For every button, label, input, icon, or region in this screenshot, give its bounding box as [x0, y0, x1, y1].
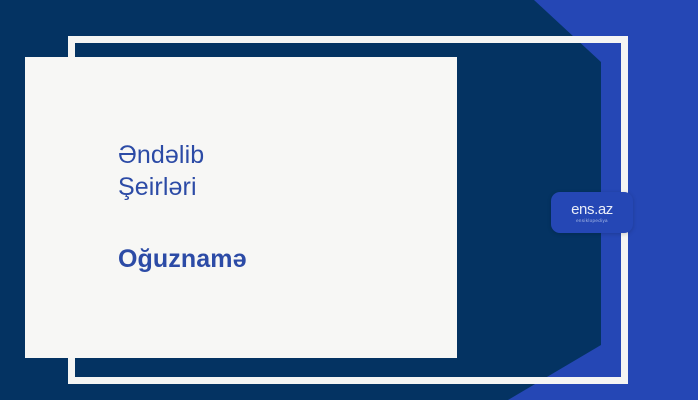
content-card: Əndəlib Şeirləri Oğuznamə [25, 57, 457, 358]
ens-az-logo-badge[interactable]: ens.az ensiklopediya [551, 192, 633, 233]
logo-wordmark: ens.az [571, 202, 613, 217]
slide-canvas: Əndəlib Şeirləri Oğuznamə ens.az ensiklo… [0, 0, 698, 400]
title-block: Əndəlib Şeirləri Oğuznamə [118, 139, 438, 275]
page-title-line-1: Əndəlib [118, 139, 438, 171]
page-subtitle: Oğuznamə [118, 243, 438, 275]
page-title-line-2: Şeirləri [118, 171, 438, 203]
logo-tagline: ensiklopediya [576, 218, 608, 224]
